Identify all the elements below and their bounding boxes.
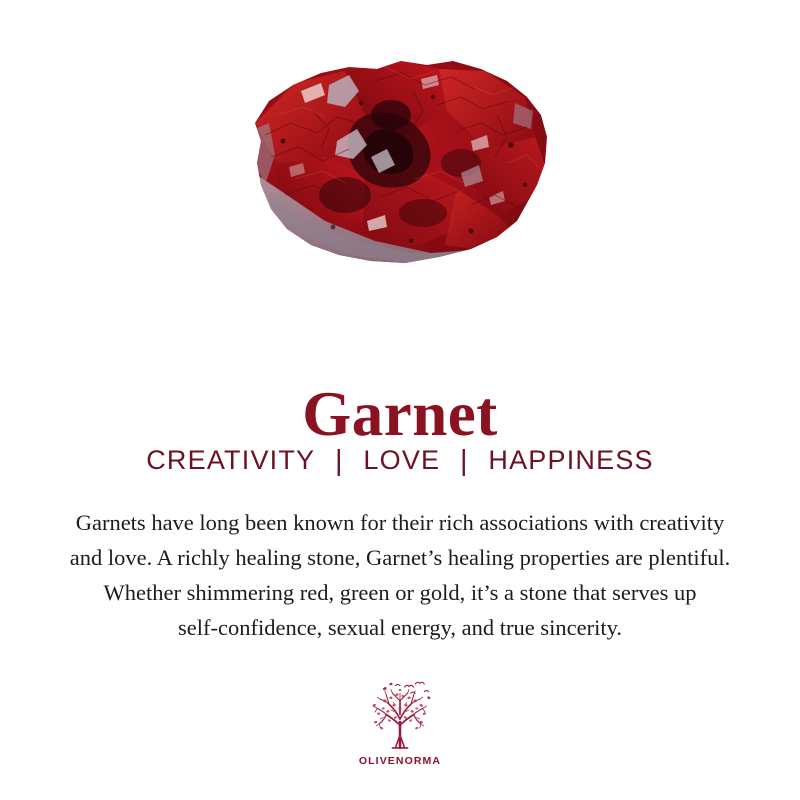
description-line: self-confidence, sexual energy, and true… — [24, 610, 776, 645]
garnet-crystal-cluster-icon — [225, 45, 575, 285]
gemstone-info-card: Garnet CREATIVITY | LOVE | HAPPINESS Gar… — [0, 0, 800, 800]
stone-body — [225, 45, 575, 285]
keyword-happiness: HAPPINESS — [488, 443, 653, 477]
description-line: Garnets have long been known for their r… — [24, 505, 776, 540]
hero-image-container — [0, 0, 800, 320]
brand-logo: OLIVENORMA — [0, 678, 800, 767]
description-text: Garnets have long been known for their r… — [24, 505, 776, 645]
keyword-list: CREATIVITY | LOVE | HAPPINESS — [0, 443, 800, 477]
description-line: Whether shimmering red, green or gold, i… — [24, 575, 776, 610]
keyword-separator: | — [449, 444, 480, 478]
birds-icon — [395, 682, 428, 693]
brand-name: OLIVENORMA — [0, 755, 800, 767]
keyword-creativity: CREATIVITY — [146, 443, 315, 477]
keyword-love: LOVE — [363, 443, 440, 477]
page-title: Garnet — [0, 378, 800, 450]
description-line: and love. A richly healing stone, Garnet… — [24, 540, 776, 575]
keyword-separator: | — [324, 444, 355, 478]
tree-of-life-icon — [362, 678, 438, 754]
